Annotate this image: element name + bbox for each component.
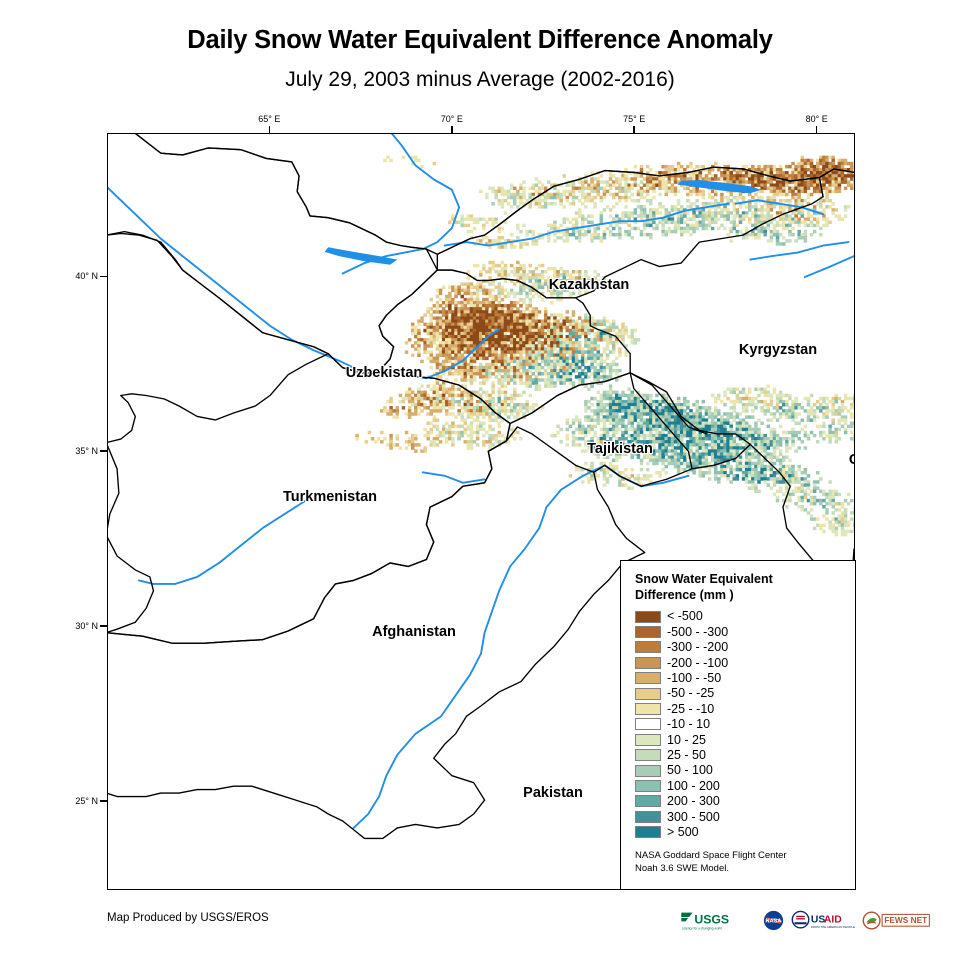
legend-swatch <box>635 626 661 638</box>
legend-label: > 500 <box>667 826 699 839</box>
legend-label: 50 - 100 <box>667 764 713 777</box>
legend-label: -500 - -300 <box>667 626 728 639</box>
credit-line-1: NASA Goddard Space Flight Center <box>635 849 845 862</box>
legend-row: -25 - -10 <box>635 701 855 716</box>
legend-panel: Snow Water Equivalent Difference (mm ) <… <box>620 560 856 890</box>
legend-swatch <box>635 718 661 730</box>
legend-swatch <box>635 780 661 792</box>
legend-swatch <box>635 749 661 761</box>
legend-swatch <box>635 734 661 746</box>
credit-line-2: Noah 3.6 SWE Model. <box>635 862 845 875</box>
legend-row: -10 - 10 <box>635 717 855 732</box>
legend-label: < -500 <box>667 610 703 623</box>
legend-label: 10 - 25 <box>667 734 706 747</box>
legend-swatch <box>635 811 661 823</box>
legend-row: -100 - -50 <box>635 671 855 686</box>
legend-row: -200 - -100 <box>635 655 855 670</box>
legend-label: -25 - -10 <box>667 703 714 716</box>
legend-swatch <box>635 795 661 807</box>
lat-tick-label: 25° N <box>64 796 98 806</box>
legend-label: 100 - 200 <box>667 780 720 793</box>
fewsnet-logo: FEWS NET <box>862 910 932 931</box>
legend-swatch <box>635 765 661 777</box>
page-subtitle: July 29, 2003 minus Average (2002-2016) <box>0 68 960 92</box>
legend-label: -200 - -100 <box>667 657 728 670</box>
legend-swatch <box>635 611 661 623</box>
legend-label: 25 - 50 <box>667 749 706 762</box>
legend-title-line2: Difference (mm ) <box>635 587 840 603</box>
legend-label: 200 - 300 <box>667 795 720 808</box>
legend-title-line1: Snow Water Equivalent <box>635 571 840 587</box>
lat-tick-label: 40° N <box>64 271 98 281</box>
legend-label: -100 - -50 <box>667 672 721 685</box>
page-title: Daily Snow Water Equivalent Difference A… <box>0 26 960 55</box>
legend-row: 50 - 100 <box>635 763 855 778</box>
legend-label: -10 - 10 <box>667 718 710 731</box>
lat-tick-label: 30° N <box>64 621 98 631</box>
produced-by-text: Map Produced by USGS/EROS <box>107 912 269 924</box>
map-page: Daily Snow Water Equivalent Difference A… <box>0 0 960 960</box>
legend-swatch <box>635 641 661 653</box>
legend-title: Snow Water Equivalent Difference (mm ) <box>635 571 840 603</box>
legend-label: 300 - 500 <box>667 811 720 824</box>
usgs-logo: USGS science for a changing world <box>680 910 756 931</box>
lon-tick-label: 75° E <box>623 114 645 124</box>
legend-classes: < -500-500 - -300-300 - -200-200 - -100-… <box>635 609 855 840</box>
legend-row: 100 - 200 <box>635 778 855 793</box>
legend-swatch <box>635 657 661 669</box>
legend-row: > 500 <box>635 824 855 839</box>
legend-row: -300 - -200 <box>635 640 855 655</box>
lon-tick-label: 70° E <box>441 114 463 124</box>
legend-swatch <box>635 688 661 700</box>
agency-logos: USGS science for a changing world NASA U… <box>680 906 932 934</box>
legend-row: -50 - -25 <box>635 686 855 701</box>
legend-row: 300 - 500 <box>635 809 855 824</box>
legend-swatch <box>635 672 661 684</box>
legend-row: 200 - 300 <box>635 794 855 809</box>
lon-tick-label: 80° E <box>806 114 828 124</box>
usaid-logo: US AID FROM THE AMERICAN PEOPLE <box>791 910 855 931</box>
legend-row: 10 - 25 <box>635 732 855 747</box>
legend-swatch <box>635 826 661 838</box>
legend-row: 25 - 50 <box>635 748 855 763</box>
nasa-logo: NASA <box>763 910 784 931</box>
legend-swatch <box>635 703 661 715</box>
legend-credit: NASA Goddard Space Flight Center Noah 3.… <box>635 849 845 876</box>
legend-label: -50 - -25 <box>667 687 714 700</box>
lat-tick-label: 35° N <box>64 446 98 456</box>
lon-tick-label: 65° E <box>258 114 280 124</box>
legend-row: < -500 <box>635 609 855 624</box>
legend-label: -300 - -200 <box>667 641 728 654</box>
legend-row: -500 - -300 <box>635 624 855 639</box>
